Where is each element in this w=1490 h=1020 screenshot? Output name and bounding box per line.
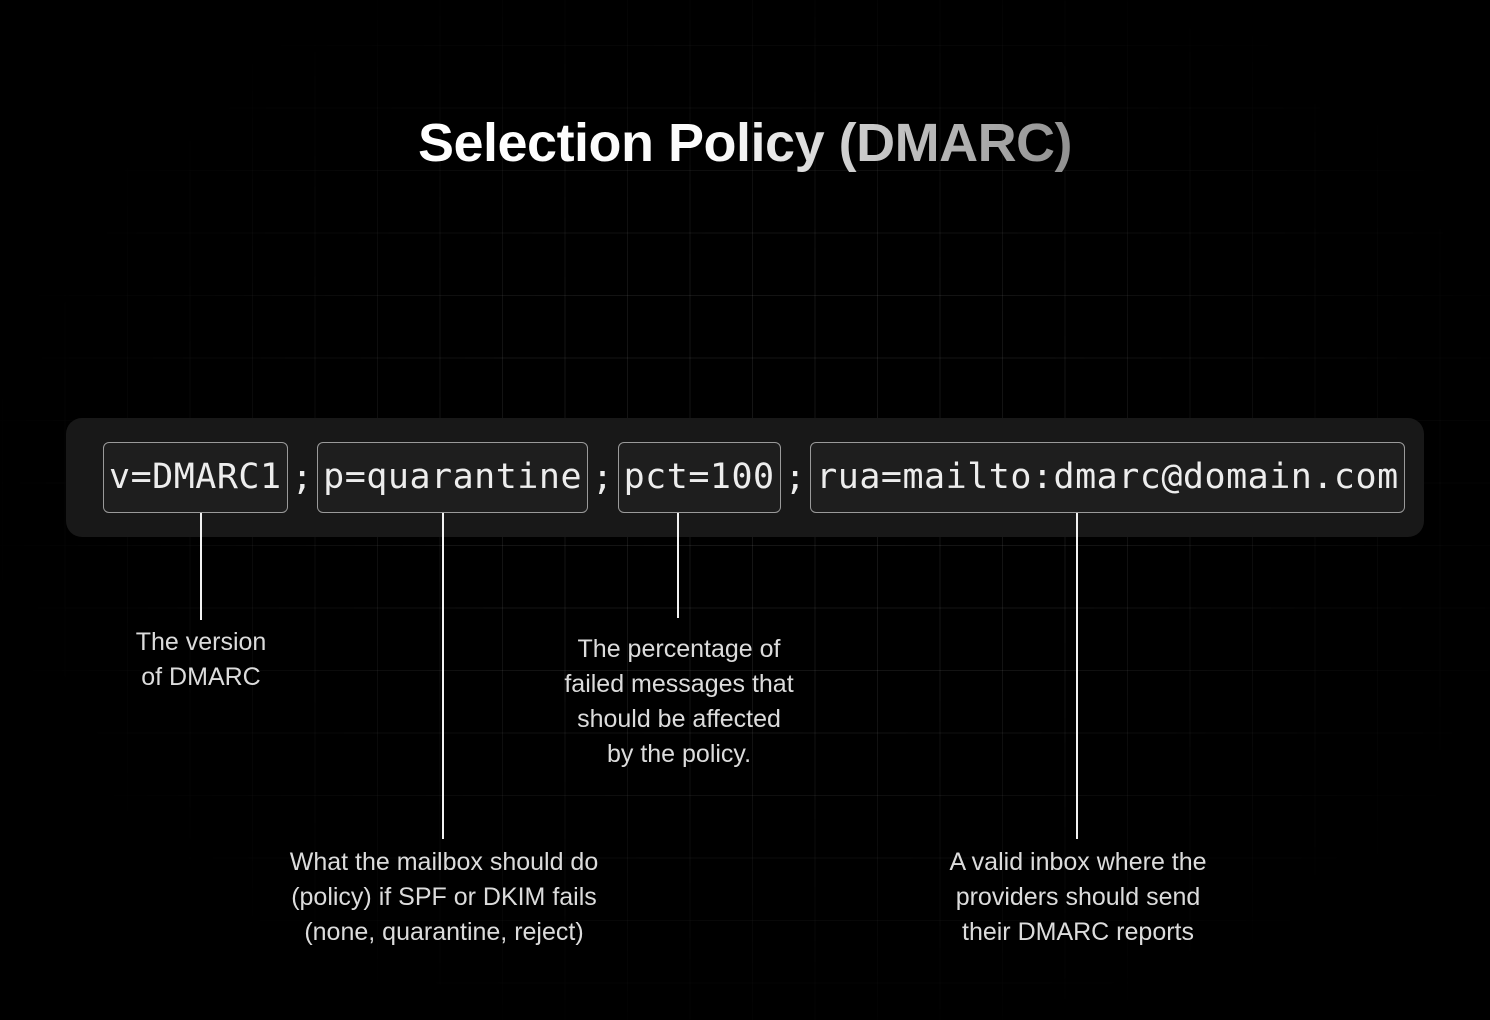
token-separator-2: ; [588,458,618,498]
token-version[interactable]: v=DMARC1 [103,442,288,513]
token-percent[interactable]: pct=100 [618,442,781,513]
connector-line-policy [442,513,444,839]
token-separator-3: ; [781,458,811,498]
connector-line-percent [677,513,679,618]
annotation-rua: A valid inbox where the providers should… [882,845,1274,950]
page-title-text: Selection Policy (DMARC) [418,113,1072,173]
connector-line-rua [1076,513,1078,839]
dmarc-record-row: v=DMARC1 ; p=quarantine ; pct=100 ; rua=… [103,442,1405,513]
slide-canvas: Selection Policy (DMARC) v=DMARC1 ; p=qu… [0,0,1490,1020]
annotation-policy: What the mailbox should do (policy) if S… [228,845,660,950]
page-title: Selection Policy (DMARC) [0,112,1490,174]
dmarc-record-bar: v=DMARC1 ; p=quarantine ; pct=100 ; rua=… [66,418,1424,537]
connector-line-version [200,513,202,620]
token-separator-1: ; [288,458,318,498]
annotation-version: The version of DMARC [46,625,356,695]
token-policy[interactable]: p=quarantine [317,442,588,513]
annotation-percent: The percentage of failed messages that s… [504,632,854,772]
token-rua[interactable]: rua=mailto:dmarc@domain.com [810,442,1404,513]
